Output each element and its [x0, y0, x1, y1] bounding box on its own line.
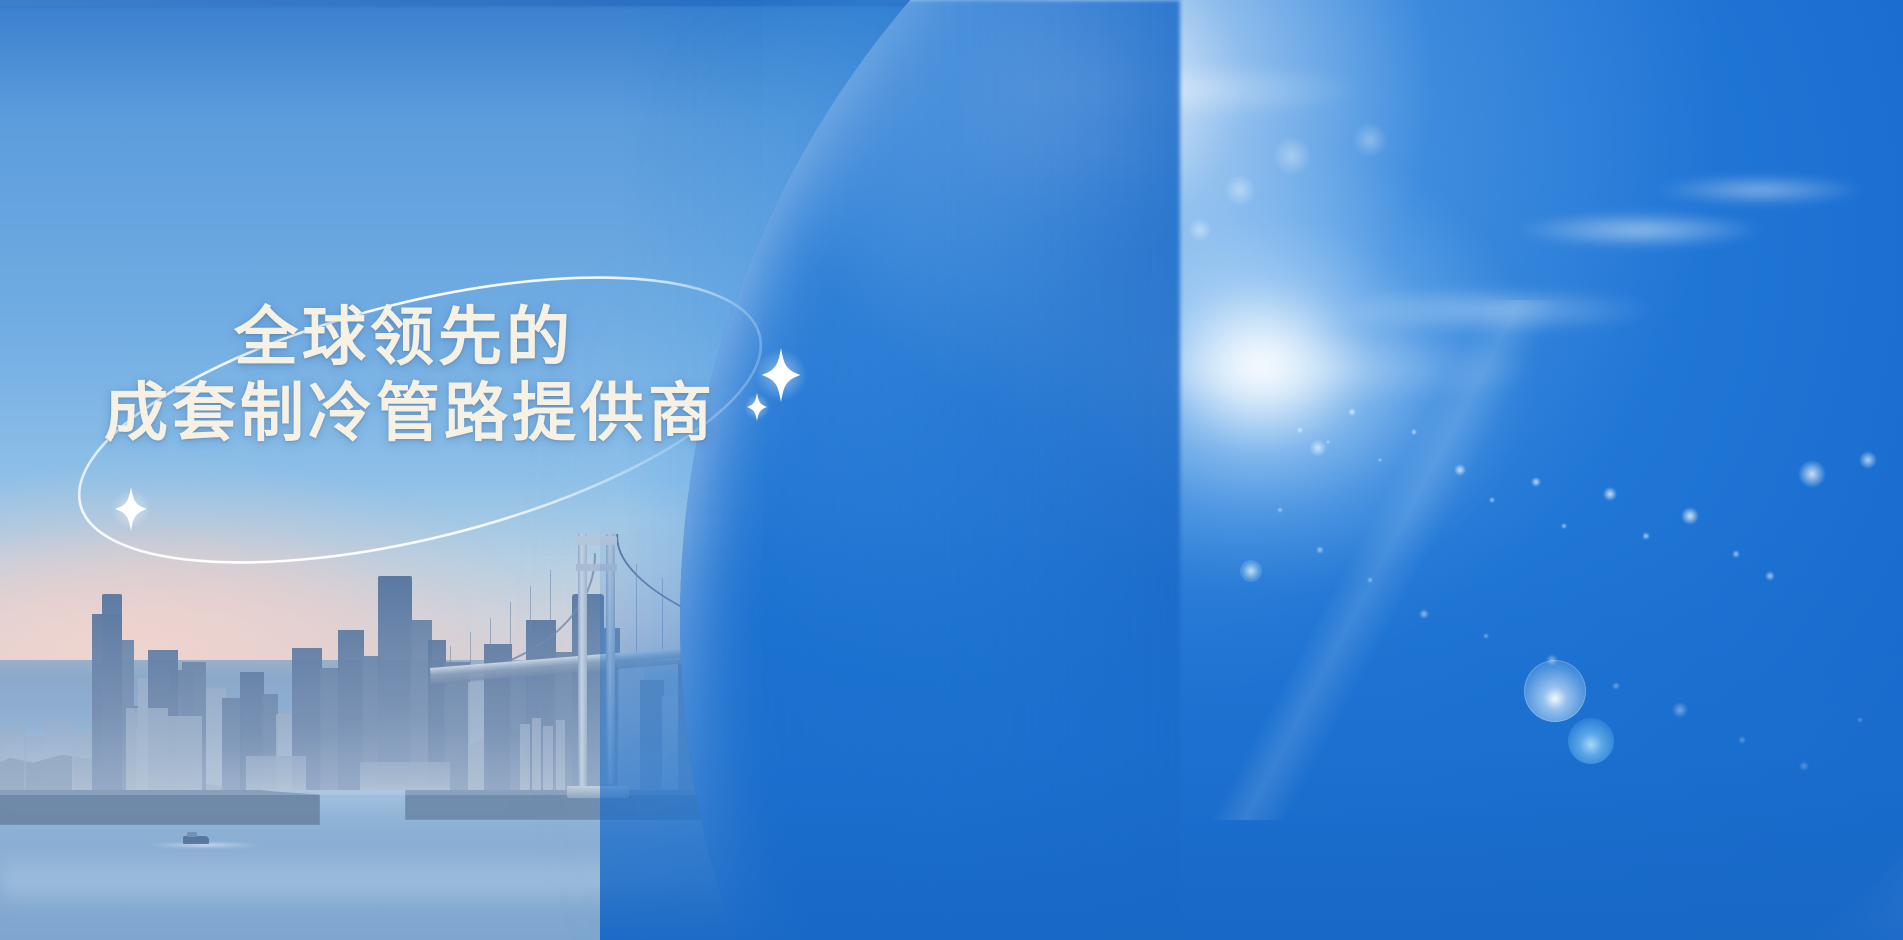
- banner-headline: 全球领先的 成套制冷管路提供商: [104, 300, 864, 451]
- headline-line-2: 成套制冷管路提供商: [104, 376, 864, 452]
- hero-banner: 全球领先的 成套制冷管路提供商: [0, 0, 1903, 940]
- earth-globe: [680, 0, 1903, 940]
- bridge-tower-crossbar-top: [576, 536, 617, 545]
- bridge-tower-left-leg: [578, 534, 587, 794]
- headline-line-1: 全球领先的: [234, 300, 864, 376]
- bridge-tower-crossbar-mid: [576, 564, 617, 571]
- bridge-tower-right-leg: [606, 534, 615, 784]
- bridge-pier: [567, 786, 629, 798]
- globe-limb-glow: [680, 0, 1903, 940]
- boat: [183, 836, 209, 844]
